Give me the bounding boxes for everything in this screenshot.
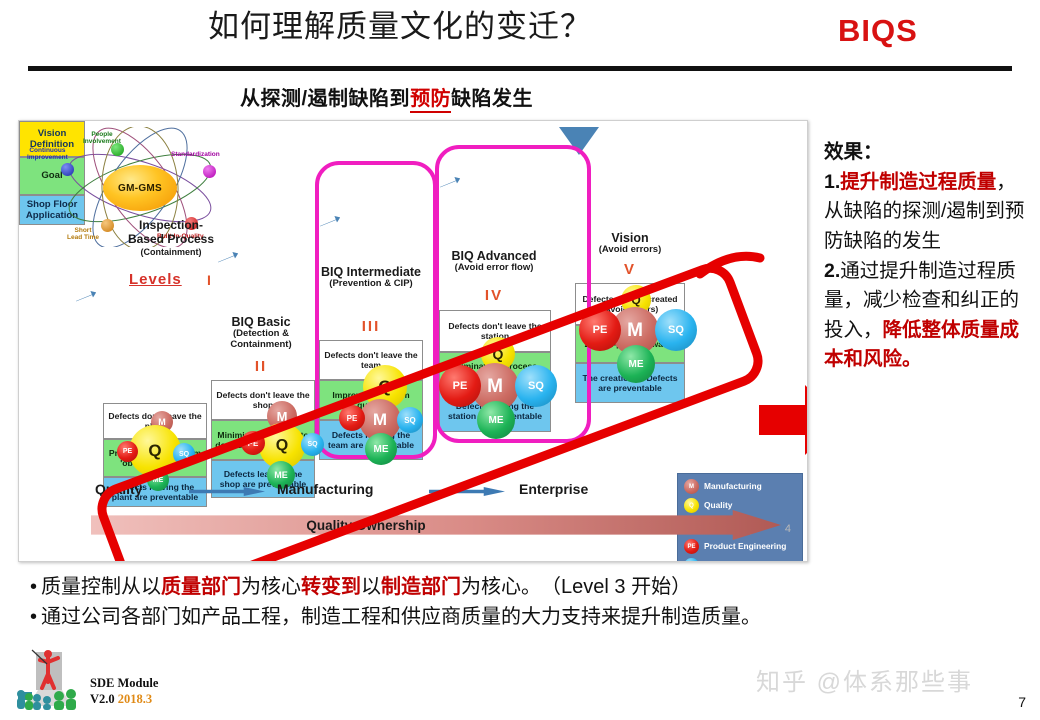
bullet-marker: • — [30, 606, 37, 628]
page-title: 如何理解质量文化的变迁？ — [0, 8, 800, 45]
bubble-me: ME — [617, 345, 655, 383]
subtitle-prefix: 从探测/遏制缺陷到 — [240, 88, 410, 110]
legend-item: PE Product Engineering — [684, 539, 796, 554]
legend-label-manufacturing: Manufacturing — [704, 482, 762, 491]
bubble-me: ME — [365, 433, 397, 465]
effects-item-2-number: 2. — [824, 260, 840, 282]
bubble-sq: SQ — [301, 433, 324, 456]
legend-item: SQ Supplier Quality — [684, 558, 796, 562]
subtitle-highlight: 预防 — [410, 88, 451, 113]
effects-item-1-number: 1. — [824, 171, 840, 193]
atom-node-shortlead-icon — [101, 219, 114, 232]
inspection-caption: Inspection- Based Process (Containment) — [115, 219, 227, 257]
inspection-line3: (Containment) — [115, 247, 227, 257]
effects-item-2-end: 。 — [902, 348, 922, 370]
quality-ownership-label: Quality Ownership — [306, 518, 425, 533]
inspection-line1: Inspection- — [115, 219, 227, 233]
bubble-pe: PE — [339, 405, 365, 431]
legend-dot-q: Q — [684, 498, 699, 513]
bullet1-part2: 为核心 — [241, 576, 301, 598]
subtitle: 从探测/遏制缺陷到预防缺陷发生 — [240, 82, 533, 111]
bubble-me: ME — [147, 469, 169, 491]
bullet2-text: 通过公司各部门如产品工程，制造工程和供应商质量的大力支持来提升制造质量。 — [41, 606, 761, 628]
bullet-item-1: •质量控制从以质量部门为核心转变到以制造部门为核心。 （Level 3 开始） — [30, 572, 1030, 602]
footer-version: V2.0 2018.3 — [90, 692, 152, 707]
axis-arrow-2-icon — [429, 487, 505, 496]
atom-node-continuous-icon — [61, 163, 74, 176]
atom-label-standardization: Standardization — [171, 151, 220, 158]
bullet-item-2: •通过公司各部门如产品工程，制造工程和供应商质量的大力支持来提升制造质量。 — [30, 602, 1030, 632]
biqs-levels-diagram: GM-GMS PeopleInvolvement ContinuousImpro… — [18, 120, 808, 562]
legend-label-quality: Quality — [704, 501, 732, 510]
axis-label-quality: Quality — [95, 481, 142, 497]
bubble-pe: PE — [439, 365, 481, 407]
legend-item: M Manufacturing — [684, 479, 796, 494]
header-divider — [28, 66, 1012, 71]
legend-dot-pe: PE — [684, 539, 699, 554]
atom-core-label: GM-GMS — [103, 165, 177, 211]
level5-title: Vision — [575, 231, 685, 245]
slide-page-number: 7 — [1018, 694, 1026, 710]
atom-label-people: PeopleInvolvement — [83, 131, 121, 146]
inspection-line2: Based Process — [115, 233, 227, 247]
level-numeral-1: I — [207, 272, 211, 288]
atom-label-continuous: ContinuousImprovement — [27, 147, 68, 162]
bullet-list: •质量控制从以质量部门为核心转变到以制造部门为核心。 （Level 3 开始） … — [30, 572, 1030, 632]
level2-title: BIQ Basic — [211, 315, 311, 329]
bullet1-part1: 质量控制从以 — [41, 576, 161, 598]
bullet1-red3: 制造部门 — [381, 576, 461, 598]
legend-label-product-engineering: Product Engineering — [704, 542, 786, 551]
bubble-pe: PE — [241, 431, 265, 455]
watermark: 知乎 @体系那些事 — [756, 662, 973, 697]
sde-logo-icon — [14, 648, 86, 710]
level2-subtitle: (Detection & Containment) — [211, 329, 311, 350]
step-arrow-1-icon — [74, 289, 97, 304]
legend-label-supplier-quality: Supplier Quality — [704, 561, 768, 562]
level-numeral-5: V — [575, 262, 685, 279]
effects-item-1: 1.提升制造过程质量，从缺陷的探测/遏制到预防缺陷的发生 — [824, 168, 1029, 257]
brand-logo-biqs: BIQS — [838, 13, 918, 49]
bubble-pe: PE — [579, 309, 621, 351]
footer-module-name: SDE Module — [90, 676, 158, 691]
footer-version-year: 2018.3 — [118, 692, 152, 706]
bullet-marker: • — [30, 576, 37, 598]
levels-word: Levels — [129, 271, 182, 288]
legend-dot-m: M — [684, 479, 699, 494]
bubble-sq: SQ — [655, 309, 697, 351]
bubble-sq: SQ — [397, 407, 423, 433]
legend-item: Q Quality — [684, 498, 796, 513]
axis-label-enterprise: Enterprise — [519, 481, 588, 497]
diagram-page-number: 4 — [785, 523, 791, 535]
bullet1-part4: 为核心。 （Level 3 开始） — [461, 576, 691, 598]
bubble-sq: SQ — [173, 443, 195, 465]
bullet1-red1: 质量部门 — [161, 576, 241, 598]
level2-heading: BIQ Basic (Detection & Containment) — [211, 315, 311, 350]
level5-heading: Vision (Avoid errors) — [575, 231, 685, 256]
bubble-me: ME — [477, 401, 515, 439]
level-numeral-2: II — [211, 359, 311, 376]
effects-item-1-highlight: 提升制造过程质量 — [840, 171, 996, 193]
level2-vision-cell: Defects don't leave the shop — [211, 380, 315, 420]
effects-heading: 效果： — [824, 138, 1029, 168]
effects-panel: 效果： 1.提升制造过程质量，从缺陷的探测/遏制到预防缺陷的发生 2.通过提升制… — [824, 138, 1029, 375]
atom-label-shortlead: ShortLead Time — [67, 227, 99, 242]
effects-item-2: 2.通过提升制造过程质量，减少检查和纠正的投入，降低整体质量成本和风险。 — [824, 257, 1029, 376]
slide: 如何理解质量文化的变迁？ BIQS 从探测/遏制缺陷到预防缺陷发生 GM-GMS — [0, 0, 1040, 720]
bubble-sq: SQ — [515, 365, 557, 407]
level5-subtitle: (Avoid errors) — [575, 245, 685, 256]
bullet1-part3: 以 — [361, 576, 381, 598]
atom-node-standardization-icon — [203, 165, 216, 178]
bullet1-red2: 转变到 — [301, 576, 361, 598]
axis-label-manufacturing: Manufacturing — [277, 481, 373, 497]
subtitle-suffix: 缺陷发生 — [451, 88, 533, 110]
legend-dot-sq: SQ — [684, 558, 699, 562]
bubble-pe: PE — [117, 441, 138, 462]
footer-version-number: V2.0 — [90, 692, 118, 706]
red-direction-arrow-icon — [757, 383, 808, 457]
